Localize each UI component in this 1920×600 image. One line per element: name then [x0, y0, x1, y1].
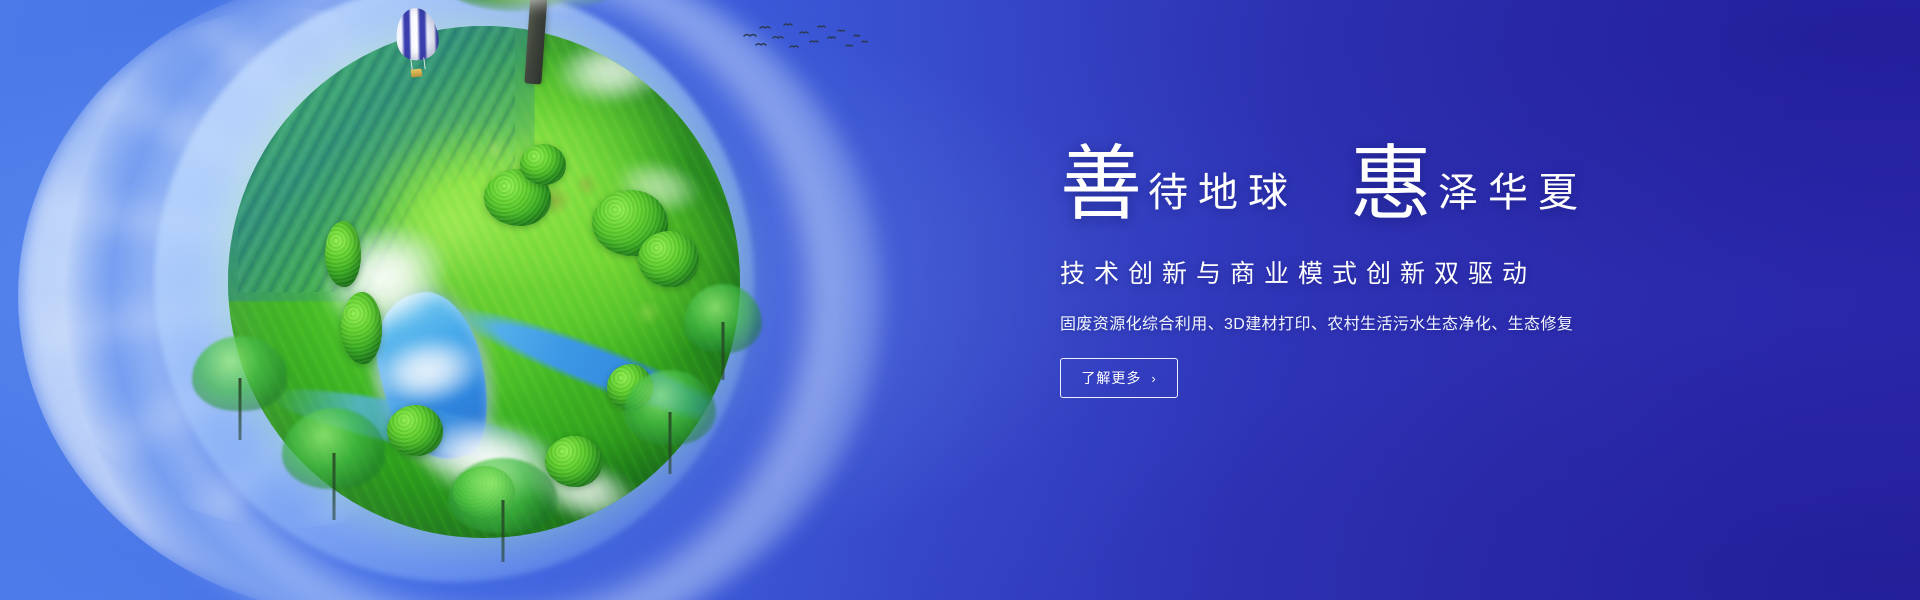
headline-char-hui: 惠 [1350, 144, 1432, 226]
hero-copy-block: 善 待地球 惠 泽华夏 技术创新与商业模式创新双驱动 固废资源化综合利用、3D建… [1060, 138, 1820, 398]
headline-rest-2: 泽华夏 [1438, 173, 1588, 213]
edge-tree-icon [684, 284, 762, 380]
hero-tree-icon [424, 0, 634, 84]
edge-tree-icon [448, 458, 558, 562]
chevron-right-icon: › [1151, 372, 1156, 385]
bird-flock-icon [740, 16, 870, 58]
subtitle: 技术创新与商业模式创新双驱动 [1060, 254, 1820, 290]
edge-tree-icon [192, 336, 288, 440]
edge-tree-icon [282, 408, 386, 520]
hero-banner: 善 待地球 惠 泽华夏 技术创新与商业模式创新双驱动 固废资源化综合利用、3D建… [0, 0, 1920, 600]
learn-more-button[interactable]: 了解更多 › [1060, 358, 1178, 398]
headline-rest-1: 待地球 [1148, 173, 1298, 213]
earth-globe-illustration [148, 0, 820, 600]
headline-char-shan: 善 [1060, 144, 1142, 226]
headline-phrase-1: 善 待地球 [1060, 138, 1298, 220]
headline: 善 待地球 惠 泽华夏 [1060, 138, 1820, 242]
edge-tree-icon [624, 370, 716, 474]
headline-phrase-2: 惠 泽华夏 [1350, 138, 1588, 220]
learn-more-label: 了解更多 [1081, 371, 1141, 385]
description-text: 固废资源化综合利用、3D建材打印、农村生活污水生态净化、生态修复 [1060, 310, 1820, 334]
hot-air-balloon-icon [396, 8, 438, 84]
